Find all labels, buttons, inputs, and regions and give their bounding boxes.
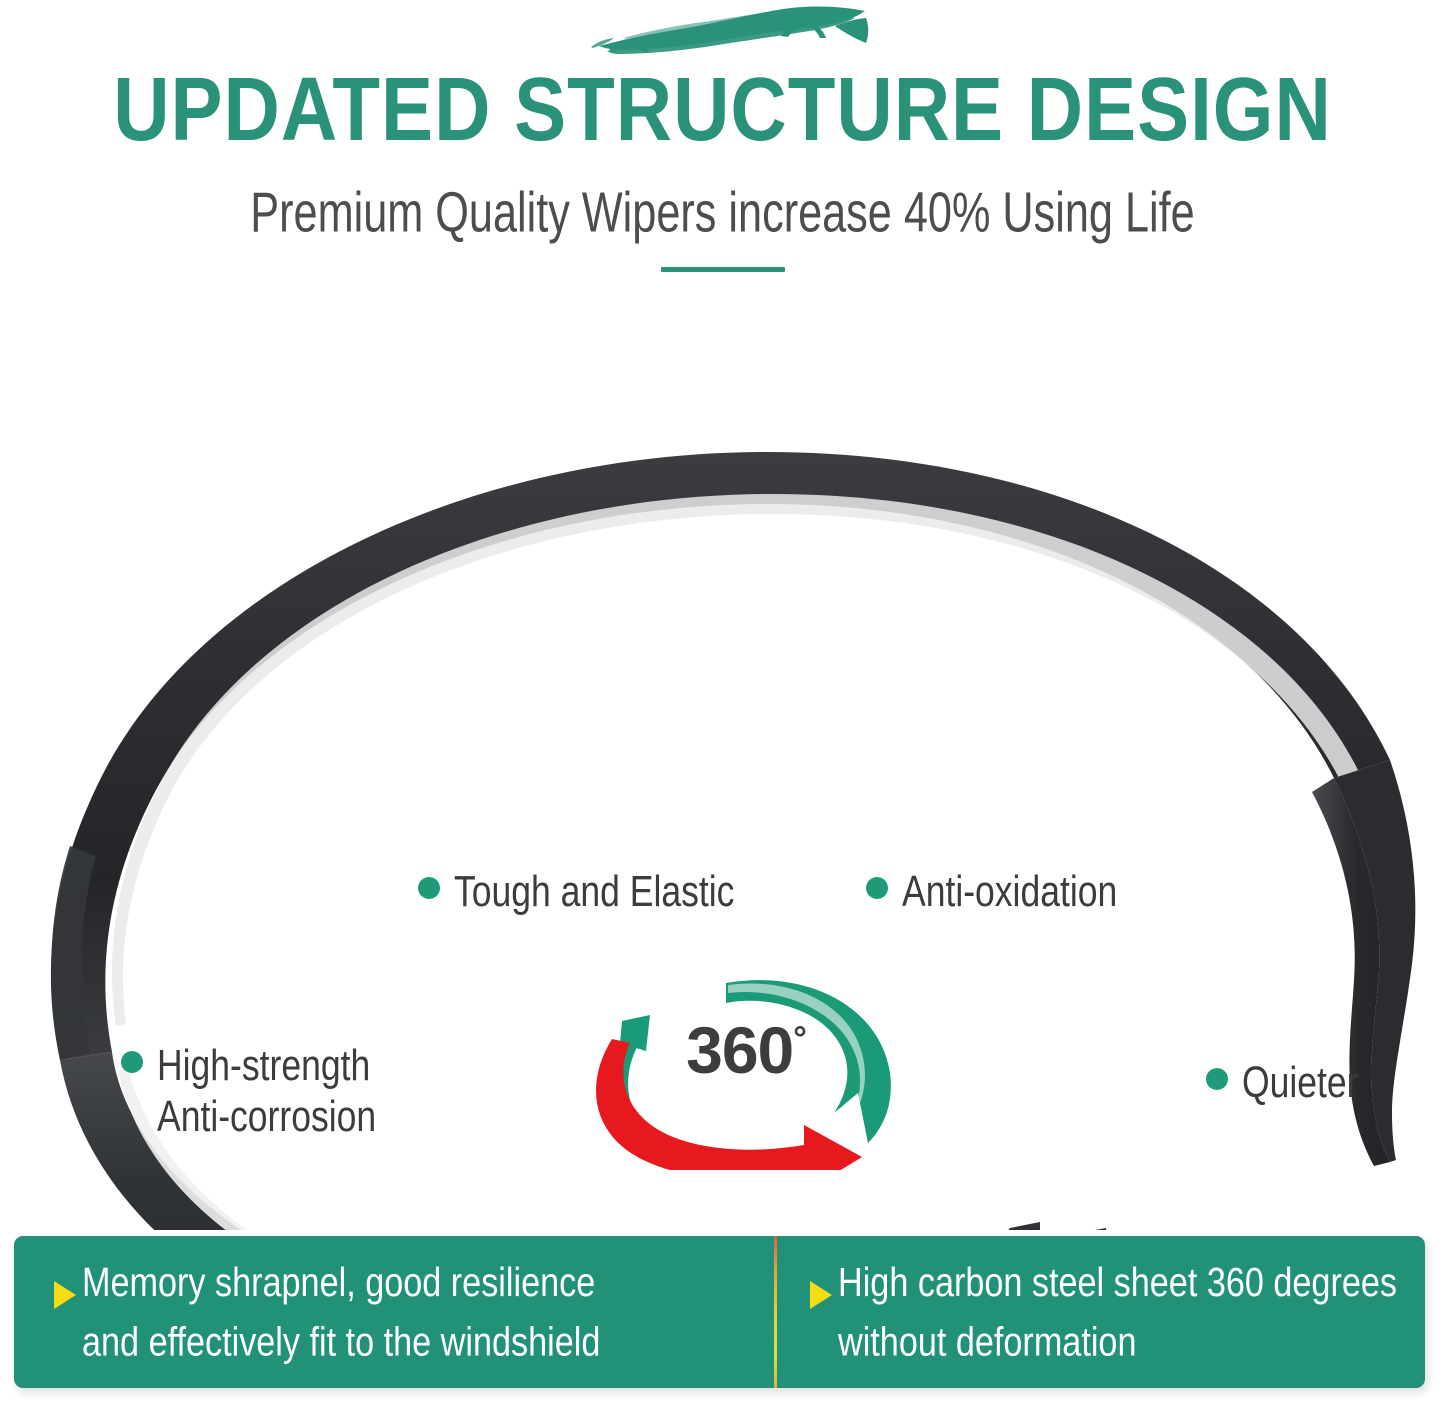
- banner-text: Memory shrapnel, good resilienceand effe…: [82, 1253, 600, 1372]
- banner-text-line-1: Memory shrapnel, good resilience: [82, 1258, 595, 1305]
- banner-text-line-1: High carbon steel sheet 360 degrees: [838, 1258, 1397, 1305]
- product-illustration-section: 360° Tough and Elastic Anti-oxidation Hi…: [0, 300, 1445, 1230]
- badge-360-label: 360°: [576, 1015, 916, 1085]
- degree-symbol: °: [793, 1020, 806, 1058]
- car-silhouette-icon: [583, 4, 878, 60]
- bullet-dot-icon: [418, 877, 440, 899]
- feature-label: Tough and Elastic: [454, 866, 734, 917]
- bullet-dot-icon: [866, 877, 888, 899]
- banner-text-line-2: without deformation: [838, 1312, 1397, 1371]
- feature-label-line-2: Anti-corrosion: [157, 1091, 376, 1142]
- feature-quieter: Quieter: [1206, 1057, 1363, 1100]
- bottom-feature-banner: Memory shrapnel, good resilienceand effe…: [14, 1236, 1425, 1388]
- page-subtitle: Premium Quality Wipers increase 40% Usin…: [43, 178, 1401, 246]
- badge-360-rotation: 360°: [576, 955, 916, 1170]
- bullet-dot-icon: [121, 1051, 143, 1073]
- banner-item-high-carbon-steel: High carbon steel sheet 360 degreeswitho…: [774, 1236, 1425, 1388]
- feature-tough-and-elastic: Tough and Elastic: [418, 866, 746, 909]
- feature-high-strength-anti-corrosion: High-strengthAnti-corrosion: [121, 1040, 385, 1126]
- header-section: UPDATED STRUCTURE DESIGN Premium Quality…: [0, 0, 1445, 300]
- feature-anti-oxidation: Anti-oxidation: [866, 866, 1126, 909]
- triangle-arrow-icon: [810, 1281, 832, 1309]
- banner-item-memory-shrapnel: Memory shrapnel, good resilienceand effe…: [14, 1236, 774, 1388]
- feature-label: High-strengthAnti-corrosion: [157, 1040, 376, 1141]
- bullet-dot-icon: [1206, 1068, 1228, 1090]
- banner-text: High carbon steel sheet 360 degreeswitho…: [838, 1253, 1397, 1372]
- title-underline-divider: [661, 267, 785, 272]
- feature-label-line-1: High-strength: [157, 1041, 370, 1089]
- feature-label: Quieter: [1242, 1057, 1358, 1108]
- triangle-arrow-icon: [54, 1281, 76, 1309]
- badge-value: 360: [686, 1013, 793, 1087]
- page-title: UPDATED STRUCTURE DESIGN: [0, 62, 1445, 156]
- banner-text-line-2: and effectively fit to the windshield: [82, 1312, 600, 1371]
- feature-label: Anti-oxidation: [902, 866, 1117, 917]
